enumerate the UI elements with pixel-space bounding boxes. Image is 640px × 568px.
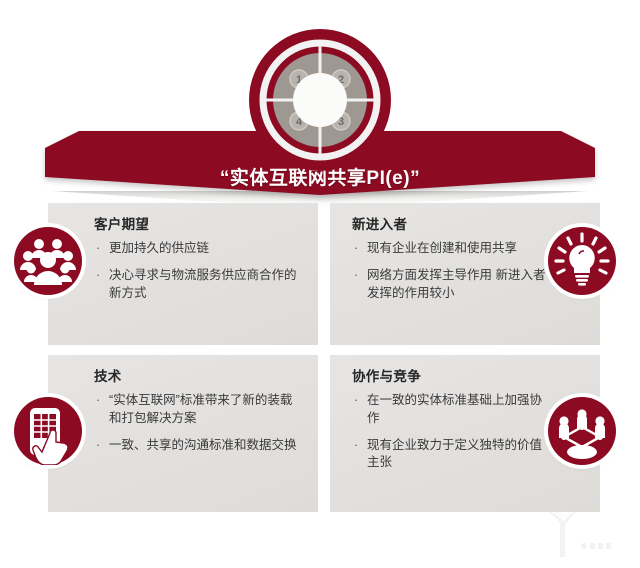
lightbulb-icon[interactable] — [548, 227, 616, 295]
list-item: ·在一致的实体标准基础上加强协作 — [352, 392, 552, 428]
bullet-dot-icon: · — [354, 392, 358, 410]
list-item: ·现有企业在创建和使用共享 — [352, 240, 552, 258]
panel-bullets: ·“实体互联网”标准带来了新的装载和打包解决方案 ·一致、共享的沟通标准和数据交… — [94, 392, 302, 454]
bullet-dot-icon: · — [354, 240, 358, 258]
bullet-text: 现有企业在创建和使用共享 — [367, 241, 517, 255]
bullet-dot-icon: · — [354, 267, 358, 285]
bullet-text: 现有企业致力于定义独特的价值主张 — [367, 438, 542, 470]
list-item: ·一致、共享的沟通标准和数据交换 — [94, 437, 302, 455]
lightbulb-glyph — [548, 227, 616, 295]
smartphone-touch-glyph — [14, 397, 82, 465]
panel-title: 技术 — [94, 369, 302, 385]
bullet-text: 更加持久的供应链 — [109, 241, 209, 255]
bullet-text: 决心寻求与物流服务供应商合作的新方式 — [109, 268, 297, 300]
people-group-glyph — [14, 227, 82, 295]
panel-bullets: ·现有企业在创建和使用共享 ·网络方面发挥主导作用 新进入者发挥的作用较小 — [352, 240, 552, 302]
list-item: ·决心寻求与物流服务供应商合作的新方式 — [94, 267, 302, 303]
panel-content: 客户期望 ·更加持久的供应链 ·决心寻求与物流服务供应商合作的新方式 — [48, 203, 318, 345]
list-item: ·现有企业致力于定义独特的价值主张 — [352, 437, 552, 473]
panel-bullets: ·在一致的实体标准基础上加强协作 ·现有企业致力于定义独特的价值主张 — [352, 392, 552, 472]
panel-bullets: ·更加持久的供应链 ·决心寻求与物流服务供应商合作的新方式 — [94, 240, 302, 302]
bullet-dot-icon: · — [96, 392, 100, 410]
panel-content: 技术 ·“实体互联网”标准带来了新的装载和打包解决方案 ·一致、共享的沟通标准和… — [48, 355, 318, 512]
panel-title: 新进入者 — [352, 217, 552, 233]
target-wheel-emblem: 1 2 3 4 — [249, 29, 391, 171]
list-item: ·更加持久的供应链 — [94, 240, 302, 258]
bullet-dot-icon: · — [96, 240, 100, 258]
bullet-dot-icon: · — [354, 437, 358, 455]
quadrant-customer-expectations[interactable]: 客户期望 ·更加持久的供应链 ·决心寻求与物流服务供应商合作的新方式 — [48, 203, 318, 345]
people-group-icon[interactable] — [14, 227, 82, 295]
bullet-text: 网络方面发挥主导作用 新进入者发挥的作用较小 — [367, 268, 545, 300]
bullet-dot-icon: · — [96, 267, 100, 285]
bullet-dot-icon: · — [96, 437, 100, 455]
panel-title: 客户期望 — [94, 217, 302, 233]
list-item: ·网络方面发挥主导作用 新进入者发挥的作用较小 — [352, 267, 552, 303]
list-item: ·“实体互联网”标准带来了新的装载和打包解决方案 — [94, 392, 302, 428]
bullet-text: 在一致的实体标准基础上加强协作 — [367, 393, 542, 425]
quadrant-technology[interactable]: 技术 ·“实体互联网”标准带来了新的装载和打包解决方案 ·一致、共享的沟通标准和… — [48, 355, 318, 512]
smartphone-touch-icon[interactable] — [14, 397, 82, 465]
bullet-text: “实体互联网”标准带来了新的装载和打包解决方案 — [109, 393, 292, 425]
panel-title: 协作与竞争 — [352, 369, 552, 385]
infographic-canvas: 客户期望 ·更加持久的供应链 ·决心寻求与物流服务供应商合作的新方式 新进入者 … — [0, 0, 640, 568]
people-network-icon[interactable] — [548, 397, 616, 465]
bullet-text: 一致、共享的沟通标准和数据交换 — [109, 438, 297, 452]
people-network-glyph — [548, 397, 616, 465]
